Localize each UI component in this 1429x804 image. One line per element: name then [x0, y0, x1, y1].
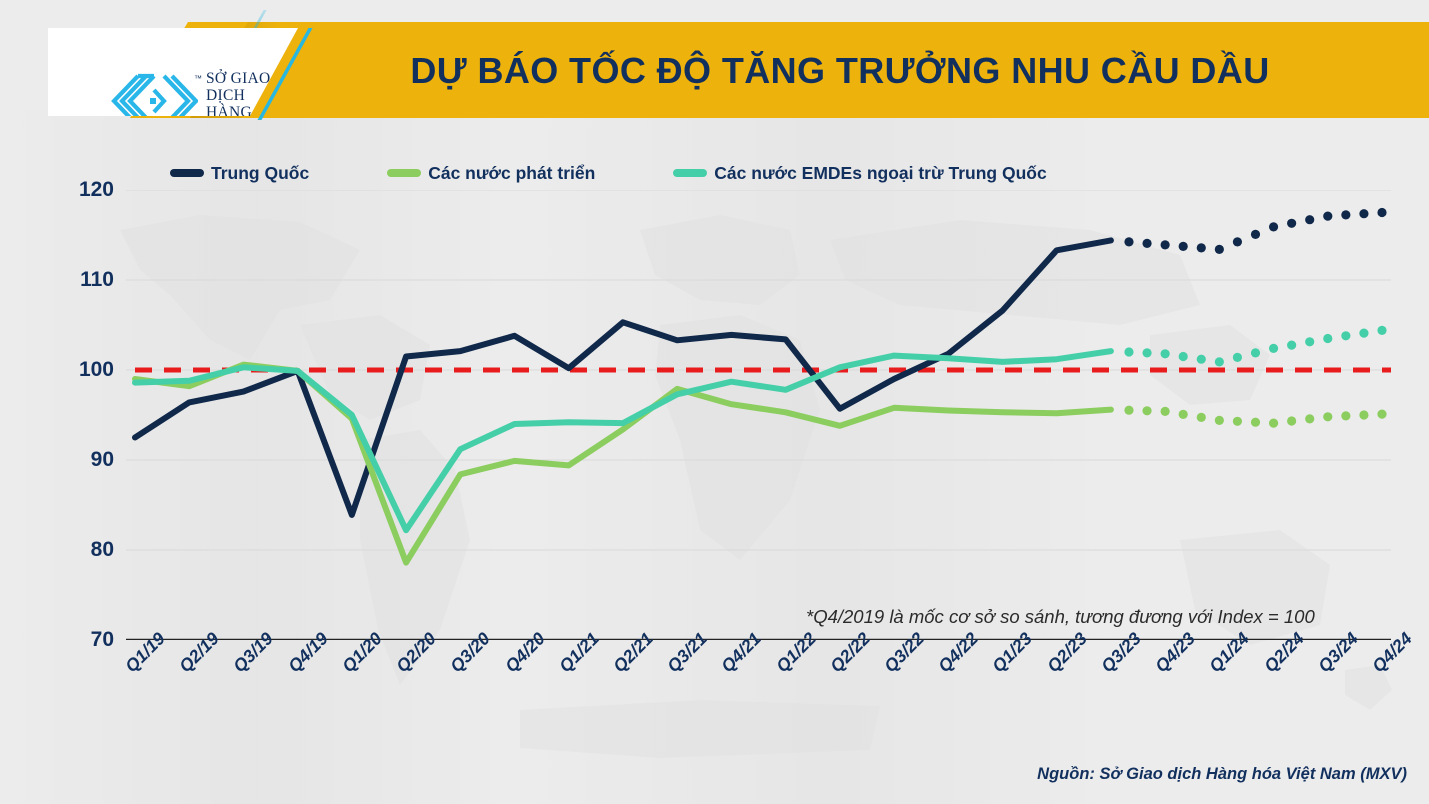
y-axis-tick-label: 100 [58, 358, 114, 382]
forecast-dot-0 [1142, 239, 1151, 248]
forecast-dot-0 [1215, 245, 1224, 254]
logo-line-3: VIỆT NAM [206, 121, 298, 138]
forecast-dot-1 [1359, 410, 1368, 419]
y-axis-tick-label: 110 [58, 268, 114, 292]
chart-plot-area [126, 190, 1391, 640]
legend-item-2[interactable]: Các nước EMDEs ngoại trừ Trung Quốc [673, 163, 1046, 184]
forecast-dot-1 [1197, 413, 1206, 422]
series-line-1 [135, 365, 1111, 563]
chart-legend: Trung QuốcCác nước phát triểnCác nước EM… [170, 160, 1125, 186]
forecast-dot-2 [1359, 329, 1368, 338]
forecast-dot-0 [1197, 243, 1206, 252]
forecast-dot-0 [1323, 212, 1332, 221]
forecast-dot-1 [1179, 410, 1188, 419]
forecast-dot-0 [1377, 208, 1386, 217]
legend-swatch-icon [387, 169, 421, 177]
forecast-dot-1 [1269, 419, 1278, 428]
forecast-dot-1 [1233, 417, 1242, 426]
legend-label: Các nước EMDEs ngoại trừ Trung Quốc [714, 163, 1046, 184]
forecast-dot-2 [1161, 349, 1170, 358]
forecast-dot-0 [1305, 215, 1314, 224]
forecast-dot-2 [1323, 334, 1332, 343]
legend-item-0[interactable]: Trung Quốc [170, 163, 309, 184]
y-axis-tick-label: 90 [58, 448, 114, 472]
forecast-dot-1 [1323, 412, 1332, 421]
mxv-logo-icon [108, 72, 198, 130]
forecast-dot-0 [1251, 230, 1260, 239]
forecast-dot-1 [1287, 416, 1296, 425]
forecast-dot-1 [1341, 411, 1350, 420]
forecast-dot-2 [1197, 355, 1206, 364]
y-axis-tick-label: 80 [58, 538, 114, 562]
legend-item-1[interactable]: Các nước phát triển [387, 163, 595, 184]
forecast-dot-0 [1124, 237, 1133, 246]
forecast-dot-0 [1341, 210, 1350, 219]
forecast-dot-2 [1251, 348, 1260, 357]
forecast-dot-0 [1359, 209, 1368, 218]
series-line-0 [135, 240, 1111, 515]
forecast-dot-2 [1305, 337, 1314, 346]
forecast-dot-1 [1124, 406, 1133, 415]
forecast-dot-2 [1287, 341, 1296, 350]
forecast-dot-2 [1233, 353, 1242, 362]
trademark-icon: ™ [194, 74, 202, 83]
forecast-dot-2 [1341, 331, 1350, 340]
y-axis-tick-label: 120 [58, 178, 114, 202]
forecast-dot-1 [1305, 414, 1314, 423]
forecast-dot-0 [1269, 222, 1278, 231]
forecast-dot-0 [1179, 242, 1188, 251]
forecast-dot-2 [1215, 357, 1224, 366]
forecast-dot-2 [1377, 326, 1386, 335]
forecast-dot-2 [1269, 344, 1278, 353]
forecast-dot-1 [1251, 418, 1260, 427]
forecast-dot-1 [1215, 416, 1224, 425]
source-credit: Nguồn: Sở Giao dịch Hàng hóa Việt Nam (M… [1037, 765, 1407, 784]
forecast-dot-2 [1142, 348, 1151, 357]
page-title: DỰ BÁO TỐC ĐỘ TĂNG TRƯỞNG NHU CẦU DẦU [330, 50, 1350, 92]
forecast-dot-1 [1161, 407, 1170, 416]
legend-label: Trung Quốc [211, 163, 309, 184]
forecast-dot-1 [1377, 410, 1386, 419]
y-axis: 708090100110120 [60, 180, 126, 650]
forecast-dot-1 [1142, 406, 1151, 415]
forecast-dot-2 [1124, 347, 1133, 356]
forecast-dot-0 [1233, 237, 1242, 246]
legend-swatch-icon [170, 169, 204, 177]
forecast-dot-0 [1287, 219, 1296, 228]
legend-swatch-icon [673, 169, 707, 177]
x-axis: Q1/19Q2/19Q3/19Q4/19Q1/20Q2/20Q3/20Q4/20… [0, 648, 1429, 748]
legend-label: Các nước phát triển [428, 163, 595, 184]
forecast-dot-2 [1179, 352, 1188, 361]
forecast-dot-0 [1161, 240, 1170, 249]
footnote-baseline: *Q4/2019 là mốc cơ sở so sánh, tương đươ… [806, 606, 1315, 628]
header-banner: ™ SỞ GIAO DỊCH HÀNG HÓA VIỆT NAM DỰ BÁO … [0, 0, 1429, 150]
